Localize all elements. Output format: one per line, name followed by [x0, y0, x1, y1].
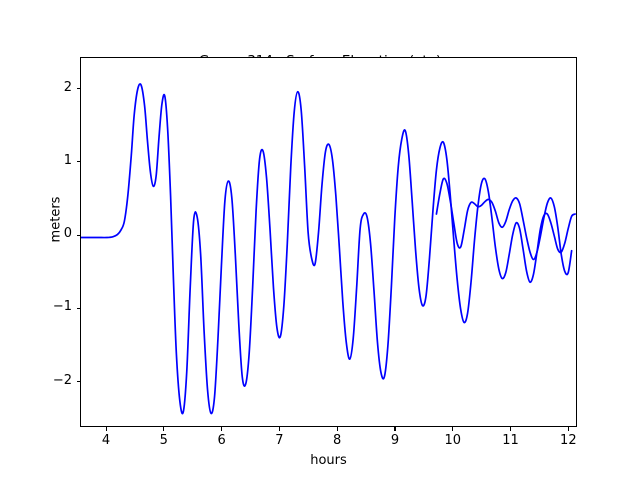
- x-axis-tick-label: 10: [433, 433, 473, 448]
- x-axis-tick-label: 4: [86, 433, 126, 448]
- y-axis-tick-mark: [77, 381, 81, 382]
- x-axis-tick-label: 9: [375, 433, 415, 448]
- y-axis-tick-label: 2: [26, 80, 72, 95]
- x-axis-label: hours: [80, 453, 577, 468]
- figure-canvas: Gauge 314 : Surface Elevation (eta) max(…: [0, 0, 640, 480]
- x-axis-tick-mark: [568, 427, 569, 431]
- x-axis-tick-label: 5: [144, 433, 184, 448]
- y-axis-tick-mark: [77, 161, 81, 162]
- y-axis-tick-label: −1: [26, 299, 72, 314]
- x-axis-tick-label: 8: [317, 433, 357, 448]
- x-axis-tick-mark: [279, 427, 280, 431]
- x-axis-tick-label: 7: [259, 433, 299, 448]
- data-series-eta: [81, 84, 575, 414]
- x-axis-tick-mark: [106, 427, 107, 431]
- y-axis-tick-label: 1: [26, 153, 72, 168]
- x-axis-tick-mark: [452, 427, 453, 431]
- x-axis-tick-mark: [510, 427, 511, 431]
- y-axis-tick-mark: [77, 308, 81, 309]
- x-axis-tick-mark: [394, 427, 395, 431]
- x-axis-tick-label: 12: [548, 433, 588, 448]
- x-axis-tick-label: 6: [202, 433, 242, 448]
- y-axis-tick-mark: [77, 88, 81, 89]
- y-axis-tick-mark: [77, 235, 81, 236]
- x-axis-tick-mark: [163, 427, 164, 431]
- series-canvas: [81, 58, 578, 428]
- x-axis-tick-mark: [221, 427, 222, 431]
- x-axis-tick-mark: [337, 427, 338, 431]
- y-axis-tick-label: 0: [26, 226, 72, 241]
- plot-area: [80, 57, 577, 427]
- y-axis-tick-label: −2: [26, 373, 72, 388]
- x-axis-tick-label: 11: [491, 433, 531, 448]
- y-axis-label: meters: [49, 160, 64, 280]
